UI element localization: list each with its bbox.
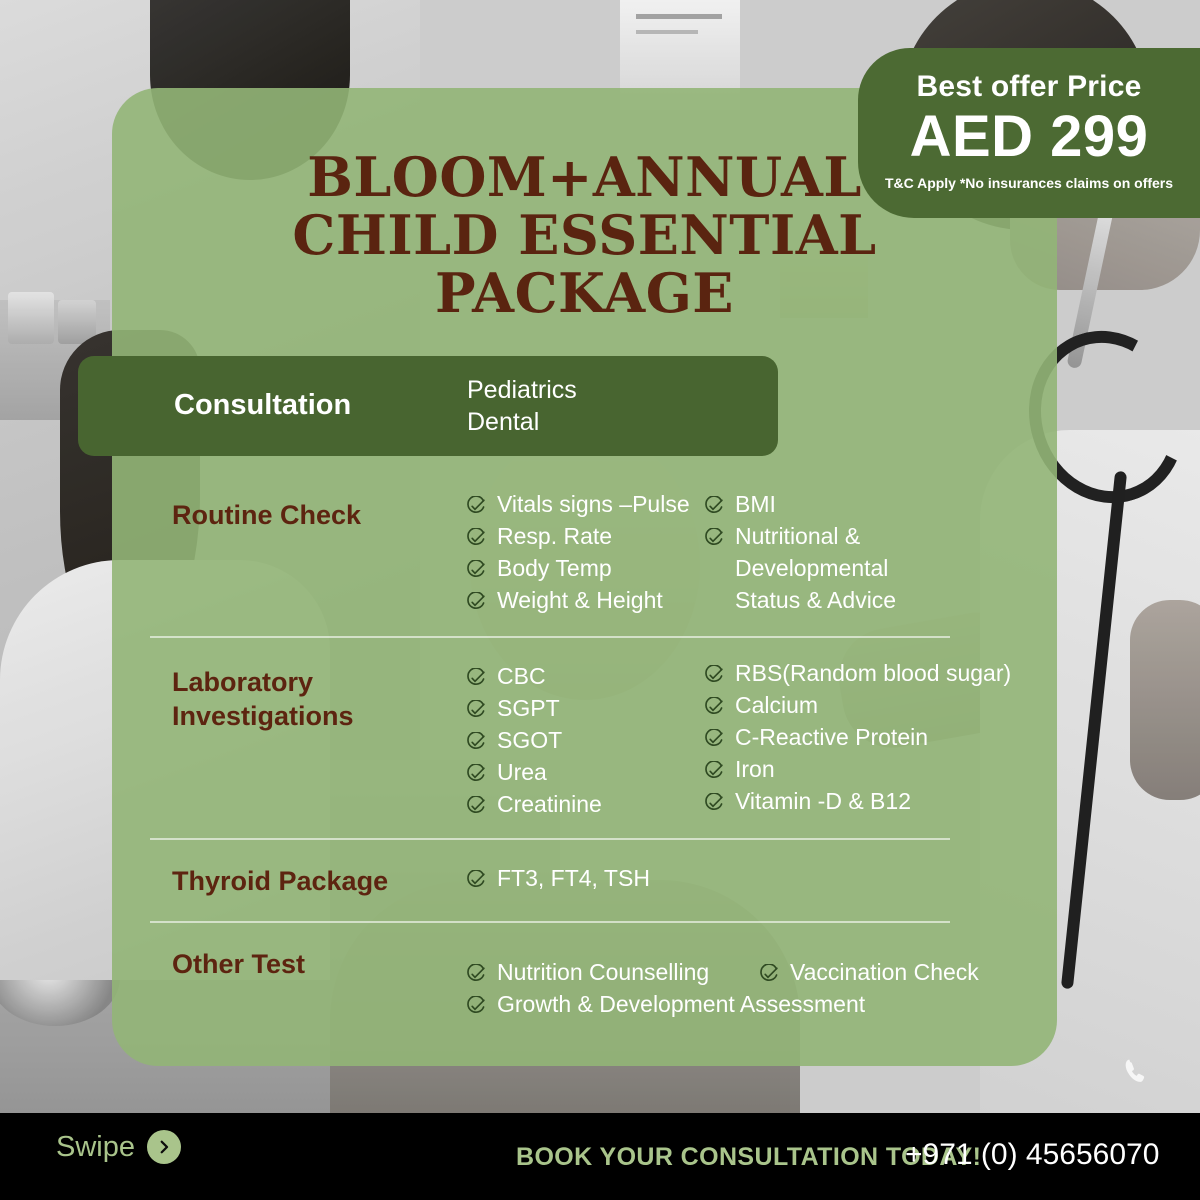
list-item-label: Nutrition Counselling [497, 959, 709, 985]
check-circle-icon [465, 793, 486, 814]
check-circle-icon [465, 493, 486, 514]
check-circle-icon [465, 557, 486, 578]
list-item: BMI [703, 488, 953, 520]
swipe-control[interactable]: Swipe [56, 1130, 181, 1164]
section-divider [150, 838, 950, 840]
price-badge: Best offer Price AED 299 T&C Apply *No i… [858, 48, 1200, 218]
list-item-label: Creatinine [497, 791, 602, 817]
other-test-column-2: Vaccination Check [758, 956, 1018, 988]
list-item-label: FT3, FT4, TSH [497, 865, 650, 891]
list-item: SGOT [465, 724, 685, 756]
laboratory-column-1: CBC SGPT SGOT [465, 660, 685, 820]
routine-check-column-1: Vitals signs –Pulse Resp. Rate Body Temp [465, 488, 695, 616]
check-circle-icon [703, 694, 724, 715]
list-item-label: BMI [735, 491, 776, 517]
check-circle-icon [465, 961, 486, 982]
section-title-other-test: Other Test [172, 947, 305, 981]
check-circle-icon [465, 589, 486, 610]
check-circle-icon [465, 525, 486, 546]
list-item-label: SGPT [497, 695, 560, 721]
check-circle-icon [703, 790, 724, 811]
phone-number[interactable]: +971 (0) 45656070 [905, 1138, 1159, 1172]
badge-price: AED 299 [858, 106, 1200, 168]
list-item: Urea [465, 756, 685, 788]
section-title-line-1: Laboratory [172, 665, 354, 699]
list-item-label: Growth & Development Assessment [497, 991, 865, 1017]
list-item: Calcium [703, 689, 1033, 721]
section-title-thyroid-package: Thyroid Package [172, 864, 388, 898]
list-item: Body Temp [465, 552, 695, 584]
list-item-label: Vitals signs –Pulse [497, 491, 690, 517]
thyroid-column-1: FT3, FT4, TSH [465, 862, 795, 894]
list-item-label: Weight & Height [497, 587, 663, 613]
check-circle-icon [465, 729, 486, 750]
section-divider [150, 921, 950, 923]
check-circle-icon [703, 726, 724, 747]
list-item-label: CBC [497, 663, 546, 689]
check-circle-icon [758, 961, 779, 982]
swipe-label: Swipe [56, 1131, 135, 1164]
list-item: Vaccination Check [758, 956, 1018, 988]
consultation-value-pediatrics: Pediatrics [467, 376, 577, 405]
list-item-label: Nutritional & Developmental Status & Adv… [735, 523, 896, 613]
check-circle-icon [465, 761, 486, 782]
badge-terms: T&C Apply *No insurances claims on offer… [858, 174, 1200, 192]
check-circle-icon [465, 665, 486, 686]
title-line-3: PACKAGE [112, 264, 1057, 322]
check-circle-icon [703, 662, 724, 683]
consultation-row: Consultation Pediatrics Dental [78, 356, 778, 456]
list-item-label: Resp. Rate [497, 523, 612, 549]
list-item: Weight & Height [465, 584, 695, 616]
list-item-label: Vitamin -D & B12 [735, 788, 911, 814]
swipe-arrow-button[interactable] [147, 1130, 181, 1164]
list-item-label: Calcium [735, 692, 818, 718]
poster-canvas: BLOOM+ANNUAL CHILD ESSENTIAL PACKAGE Bes… [0, 0, 1200, 1200]
check-circle-icon [465, 867, 486, 888]
consultation-label: Consultation [174, 389, 351, 422]
list-item-label: Body Temp [497, 555, 612, 581]
phone-watermark-icon [1120, 1056, 1154, 1090]
list-item: C-Reactive Protein [703, 721, 1033, 753]
list-item: Nutritional & Developmental Status & Adv… [703, 520, 953, 616]
section-title-laboratory-investigations: Laboratory Investigations [172, 665, 354, 733]
check-circle-icon [465, 993, 486, 1014]
check-circle-icon [703, 493, 724, 514]
list-item: Resp. Rate [465, 520, 695, 552]
section-title-line-2: Investigations [172, 699, 354, 733]
list-item-label: RBS(Random blood sugar) [735, 660, 1011, 686]
list-item-label: SGOT [497, 727, 562, 753]
list-item: FT3, FT4, TSH [465, 862, 795, 894]
check-circle-icon [465, 697, 486, 718]
list-item: Vitamin -D & B12 [703, 785, 1033, 817]
laboratory-column-2: RBS(Random blood sugar) Calcium C-Reacti… [703, 657, 1033, 817]
list-item: Growth & Development Assessment [465, 988, 925, 1020]
list-item: Iron [703, 753, 1033, 785]
list-item: Vitals signs –Pulse [465, 488, 695, 520]
list-item: CBC [465, 660, 685, 692]
list-item-label: Iron [735, 756, 775, 782]
list-item-label: Urea [497, 759, 547, 785]
check-circle-icon [703, 758, 724, 779]
badge-heading: Best offer Price [858, 70, 1200, 104]
section-divider [150, 636, 950, 638]
routine-check-column-2: BMI Nutritional & Developmental Status &… [703, 488, 953, 616]
check-circle-icon [703, 525, 724, 546]
list-item-label: C-Reactive Protein [735, 724, 928, 750]
list-item: RBS(Random blood sugar) [703, 657, 1033, 689]
consultation-value-dental: Dental [467, 408, 539, 437]
section-title-routine-check: Routine Check [172, 498, 361, 532]
list-item: SGPT [465, 692, 685, 724]
list-item-label: Vaccination Check [790, 959, 979, 985]
list-item: Creatinine [465, 788, 685, 820]
